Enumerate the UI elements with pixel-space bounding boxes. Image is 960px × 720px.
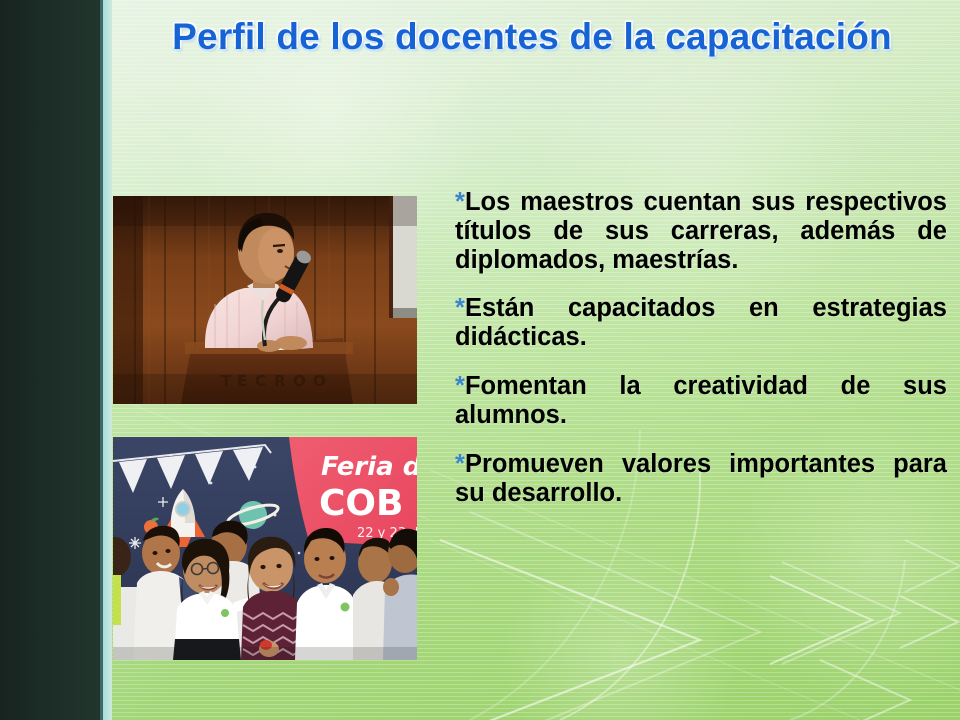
bullet-text: Fomentan la creatividad de sus alumnos. [455, 372, 947, 429]
bullet-item: *Fomentan la creatividad de sus alumnos. [455, 372, 947, 430]
bullet-marker-icon: * [455, 450, 465, 478]
left-accent-light-line [103, 0, 112, 720]
photo-students-group: Feria de COB 22 y 23 de [113, 437, 417, 660]
bullet-text: Promueven valores importantes para su de… [455, 450, 947, 507]
bullet-text: Están capacitados en estrategias didácti… [455, 294, 947, 351]
body-text-block: *Los maestros cuentan sus respectivos tí… [455, 188, 947, 507]
bullet-marker-icon: * [455, 188, 465, 216]
slide-canvas: Perfil de los docentes de la capacitació… [0, 0, 960, 720]
slide-title: Perfil de los docentes de la capacitació… [112, 16, 952, 58]
bullet-item: *Los maestros cuentan sus respectivos tí… [455, 188, 947, 274]
photo-podium-speaker: T E C R O O [113, 196, 417, 404]
left-sidebar-bar [0, 0, 100, 720]
bullet-marker-icon: * [455, 372, 465, 400]
bullet-text: Los maestros cuentan sus respectivos tít… [455, 188, 947, 274]
bullet-item: *Promueven valores importantes para su d… [455, 450, 947, 508]
svg-text:COB: COB [319, 483, 403, 524]
svg-text:Feria de: Feria de [321, 452, 417, 482]
bullet-marker-icon: * [455, 294, 465, 322]
bullet-item: *Están capacitados en estrategias didáct… [455, 294, 947, 352]
